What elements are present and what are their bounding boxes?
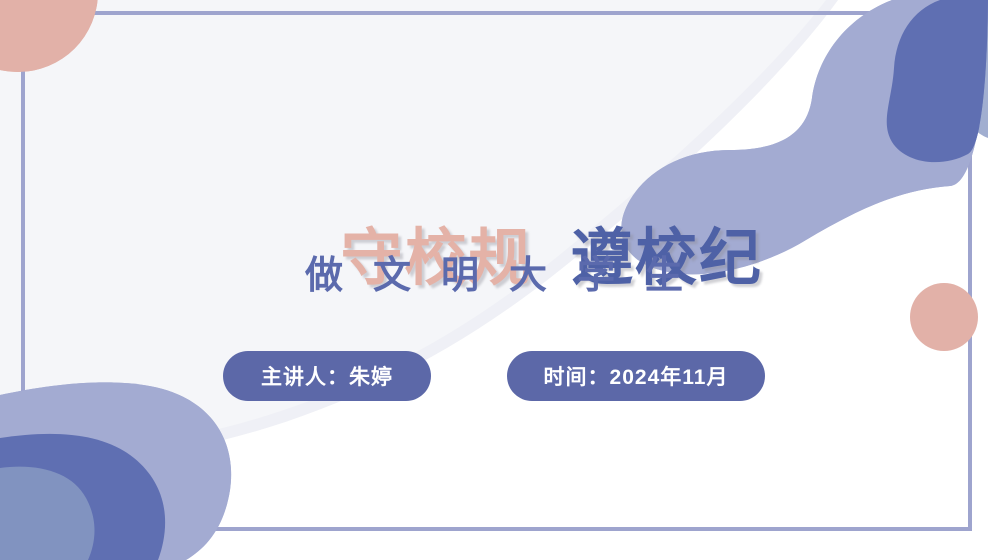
presentation-slide: 守校规 遵校纪 做文明大学生 主讲人：朱婷 时间：2024年11月 — [0, 0, 988, 560]
slide-content: 守校规 遵校纪 做文明大学生 主讲人：朱婷 时间：2024年11月 — [0, 0, 988, 560]
slide-info-pill-row: 主讲人：朱婷 时间：2024年11月 — [0, 351, 988, 401]
speaker-pill: 主讲人：朱婷 — [223, 351, 431, 401]
date-pill: 时间：2024年11月 — [507, 351, 765, 401]
slide-subtitle: 做文明大学生 — [0, 253, 988, 301]
